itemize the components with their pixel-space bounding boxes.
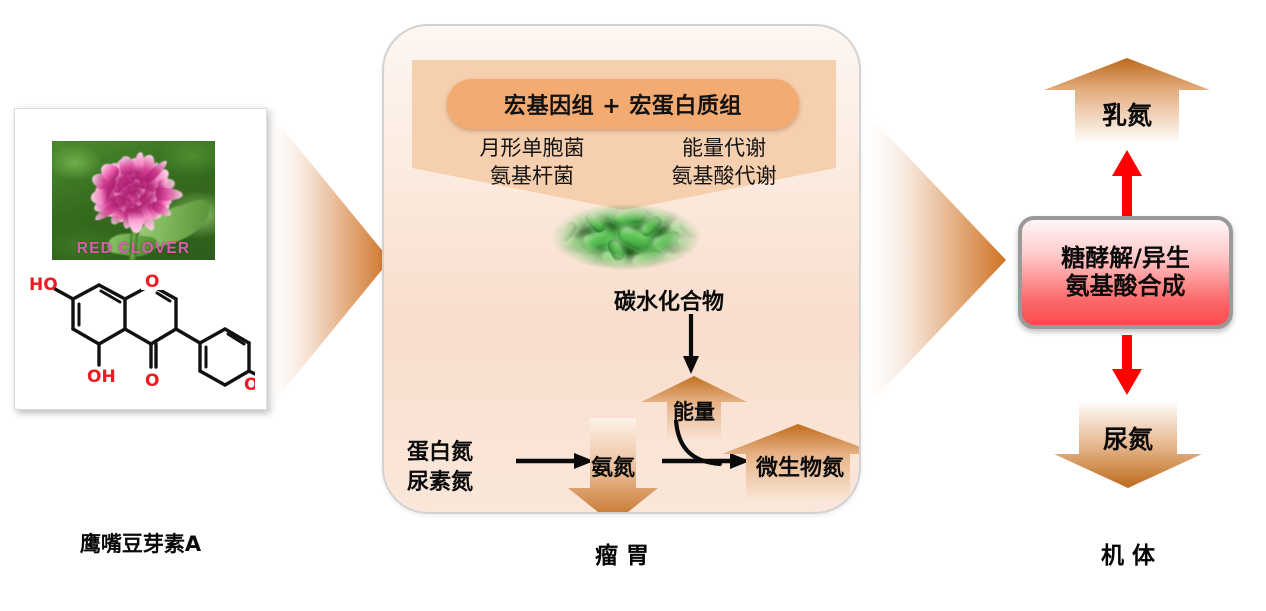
body-caption: 机 体 <box>1028 536 1228 570</box>
compound-name-label: 鹰嘴豆芽素A <box>14 528 267 558</box>
bacterium-rod <box>660 251 690 270</box>
structure-ring-o-text: O <box>145 273 159 292</box>
omics-title-label: 宏基因组 + 宏蛋白质组 <box>504 88 742 120</box>
structure-label-ketone-o: O <box>145 371 159 391</box>
omics-title-pill: 宏基因组 + 宏蛋白质组 <box>447 79 799 129</box>
protein-nitrogen-label: 蛋白氮 <box>407 434 473 466</box>
bacterium-rod <box>674 236 702 253</box>
diagram-canvas: RED CLOVER <box>0 0 1266 611</box>
bacteria-illustration <box>543 198 709 276</box>
compound-card: RED CLOVER <box>14 108 267 410</box>
glycolysis-line-1: 氨基酸合成 <box>1066 273 1186 301</box>
microbial-nitrogen-label: 微生物氮 <box>720 450 861 482</box>
biochanin-a-structure: HO OH O O O O <box>29 273 255 393</box>
structure-label-methoxy-o: O <box>244 375 255 393</box>
glycolysis-line-0: 糖酵解/异生 <box>1061 245 1190 273</box>
red-clover-photo: RED CLOVER <box>52 141 215 260</box>
glycolysis-box: 糖酵解/异生 氨基酸合成 <box>1018 216 1233 329</box>
milk-nitrogen-label: 乳氮 <box>1042 96 1212 132</box>
arrow-carbohydrate-to-energy <box>680 314 702 376</box>
urine-nitrogen-label: 尿氮 <box>1052 420 1204 456</box>
red-clover-panel: RED CLOVER <box>14 108 267 410</box>
omics-function-column: 能量代谢 氨基酸代谢 <box>634 134 814 190</box>
chevron-arrow-left-to-rumen <box>262 104 392 416</box>
taxa-item-1: 氨基杆菌 <box>442 162 622 190</box>
chevron-arrow-rumen-to-body <box>858 104 1008 416</box>
structure-label-oh: OH <box>87 367 116 387</box>
omics-taxa-column: 月形单胞菌 氨基杆菌 <box>442 134 622 190</box>
function-item-1: 氨基酸代谢 <box>634 162 814 190</box>
bacterium-rod <box>612 206 648 227</box>
red-arrow-down-to-urine <box>1110 335 1144 397</box>
bacterium-rod <box>629 247 664 271</box>
carbohydrate-label: 碳水化合物 <box>614 284 724 316</box>
rumen-panel: 宏基因组 + 宏蛋白质组 月形单胞菌 氨基杆菌 能量代谢 氨基酸代谢 碳水化合物 <box>382 24 861 514</box>
rumen-caption: 瘤 胃 <box>482 536 762 570</box>
bacterium-rod <box>564 250 599 268</box>
function-item-0: 能量代谢 <box>634 134 814 162</box>
urea-nitrogen-label: 尿素氮 <box>407 464 473 496</box>
red-arrow-up-to-milk <box>1110 148 1144 216</box>
structure-label-ho: HO <box>29 275 58 295</box>
ammonia-nitrogen-label: 氨氮 <box>566 450 660 482</box>
photo-caption-label: RED CLOVER <box>52 240 215 258</box>
taxa-item-0: 月形单胞菌 <box>442 134 622 162</box>
